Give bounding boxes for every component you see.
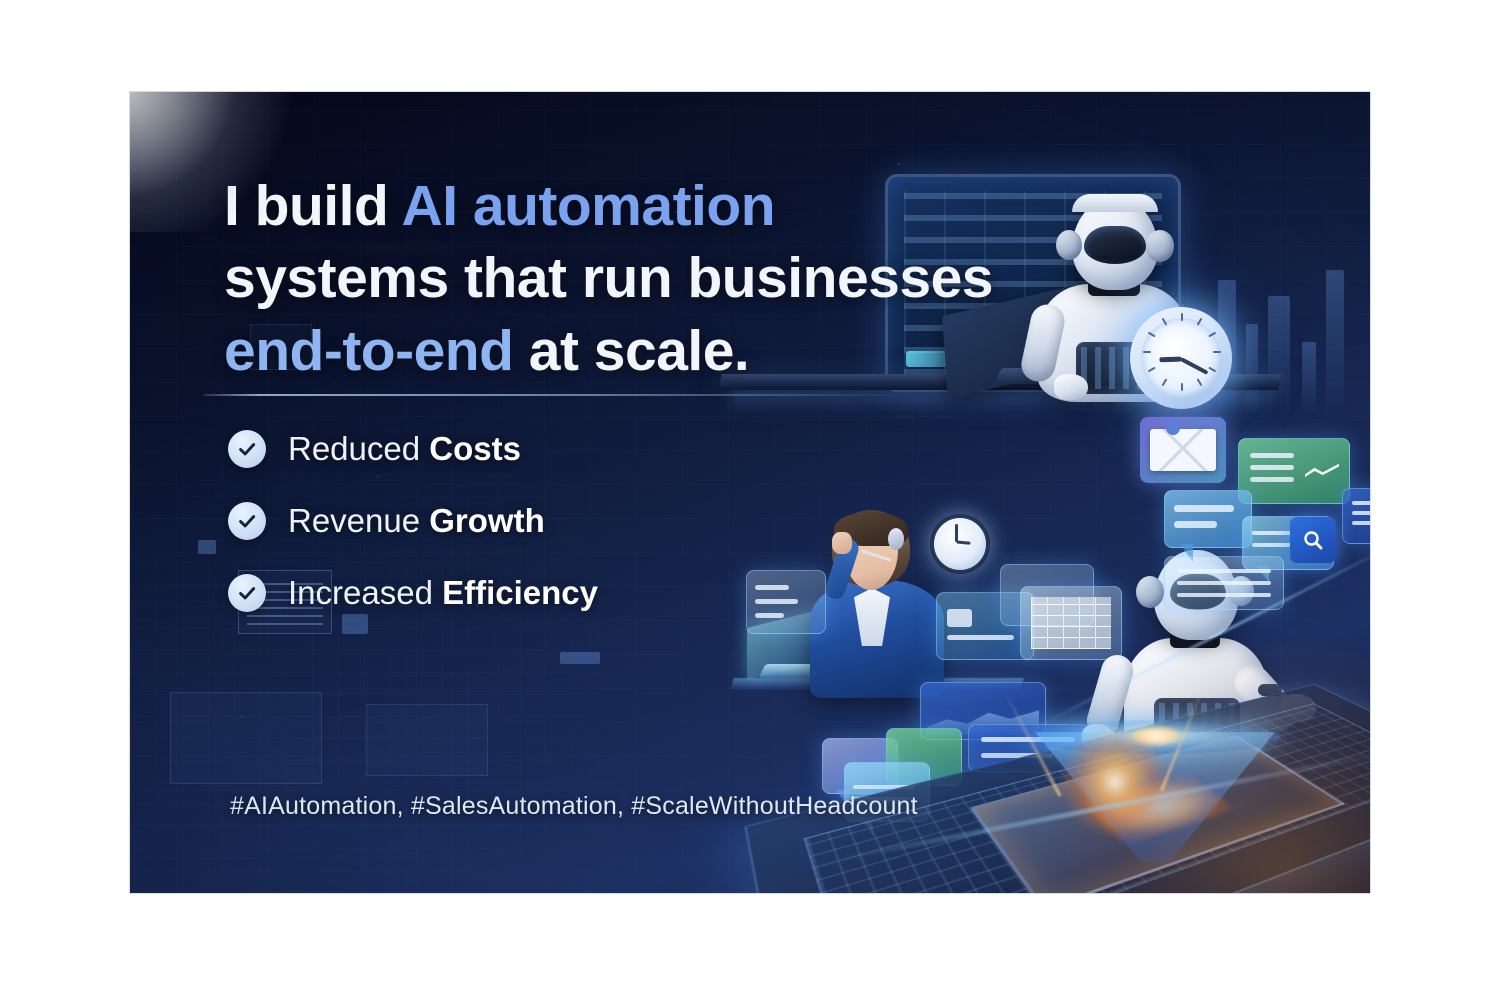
search-icon (1290, 517, 1336, 563)
headset-icon (888, 528, 904, 550)
clock-hand-hour (1159, 357, 1181, 363)
holo-card (1342, 488, 1370, 544)
check-circle-icon (228, 430, 266, 468)
headline-line-3: end-to-end at scale. (224, 315, 904, 387)
headline-text-post: at scale. (513, 319, 749, 383)
section-divider (204, 394, 904, 396)
promo-banner: I build AI automation systems that run b… (130, 92, 1370, 893)
notification-dot (1166, 421, 1180, 435)
hashtags: #AIAutomation, #SalesAutomation, #ScaleW… (230, 792, 918, 821)
email-card (1140, 417, 1226, 483)
check-circle-icon (228, 502, 266, 540)
list-item: Revenue Growth (228, 502, 598, 540)
list-item-label: Increased Efficiency (288, 574, 598, 612)
holo-card (1164, 556, 1284, 610)
headline-text-pre: I build (224, 174, 402, 238)
list-item-label: Reduced Costs (288, 430, 521, 468)
benefits-list: Reduced Costs Revenue Growth Increased E… (228, 430, 598, 646)
list-item: Increased Efficiency (228, 574, 598, 612)
headline: I build AI automation systems that run b… (224, 170, 904, 387)
bg-ui-chip (198, 540, 216, 554)
headline-line-2: systems that run businesses (224, 242, 904, 314)
headline-accent-ai-automation: AI automation (402, 174, 776, 238)
envelope-icon (1150, 429, 1216, 471)
clock-icon (930, 514, 990, 574)
bg-ui-chip (560, 652, 600, 664)
hologram-core-glow (1130, 726, 1182, 746)
chat-bubble-icon (1164, 490, 1252, 548)
headline-accent-end-to-end: end-to-end (224, 319, 513, 383)
glowing-clock-icon (1130, 307, 1232, 409)
list-item: Reduced Costs (228, 430, 598, 468)
bg-ui-panel (170, 692, 322, 784)
chart-card-icon (1238, 438, 1350, 504)
check-circle-icon (228, 574, 266, 612)
list-item-label: Revenue Growth (288, 502, 545, 540)
bg-ui-panel (366, 704, 488, 776)
headline-line-1: I build AI automation (224, 170, 904, 242)
holo-card (746, 570, 826, 634)
page-root: I build AI automation systems that run b… (0, 0, 1500, 1000)
